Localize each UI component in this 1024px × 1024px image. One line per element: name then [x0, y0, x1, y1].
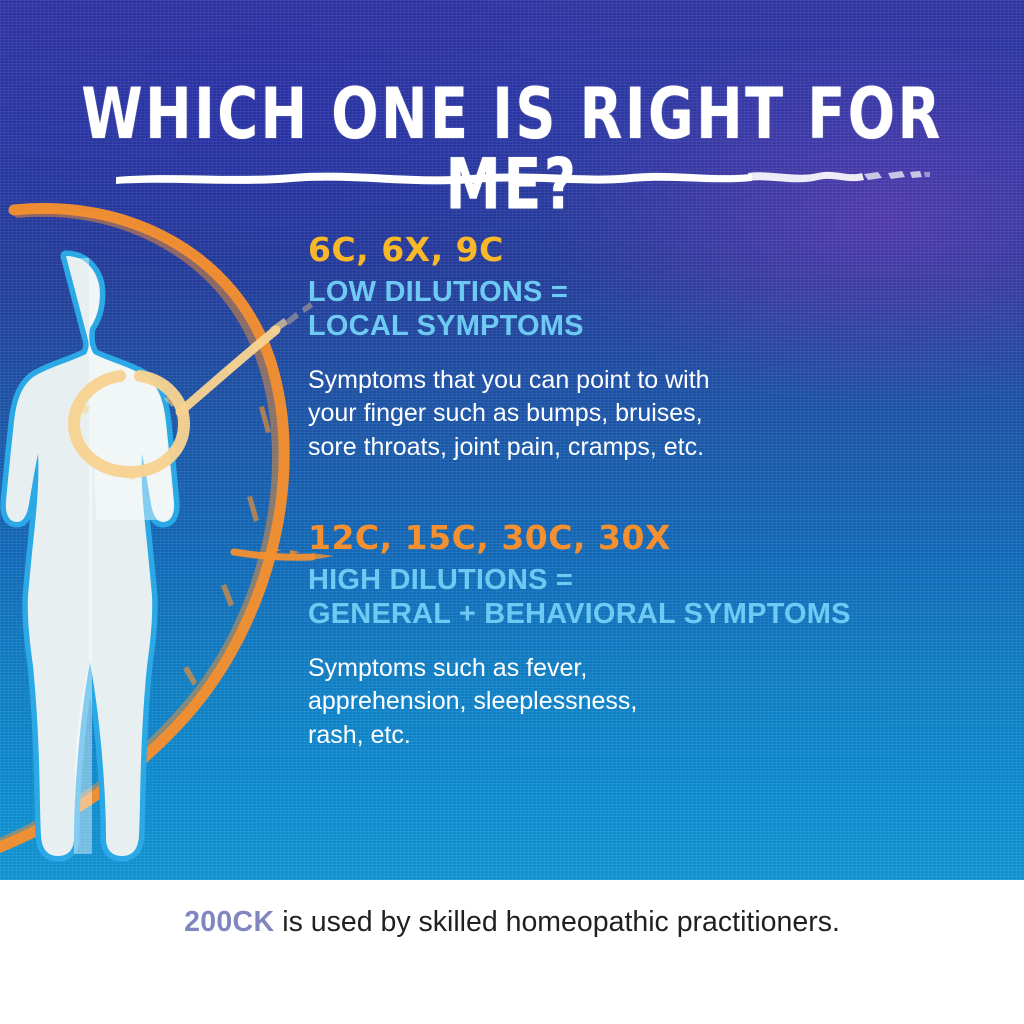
- dose-label-low: 6C, 6X, 9C: [308, 232, 968, 268]
- description-low-line2: your finger such as bumps, bruises,: [308, 399, 703, 427]
- dilution-block-high: 12C, 15C, 30C, 30X HIGH DILUTIONS = GENE…: [308, 520, 968, 752]
- subtitle-high-line2: GENERAL + BEHAVIORAL SYMPTOMS: [308, 598, 851, 630]
- subtitle-low: LOW DILUTIONS = LOCAL SYMPTOMS: [308, 276, 968, 343]
- subtitle-low-line2: LOCAL SYMPTOMS: [308, 310, 584, 342]
- human-body-silhouette-icon: [6, 256, 174, 856]
- description-high: Symptoms such as fever, apprehension, sl…: [308, 652, 968, 753]
- description-low-line1: Symptoms that you can point to with: [308, 366, 710, 394]
- footer-note-text: is used by skilled homeopathic practitio…: [274, 906, 840, 938]
- footer-note: 200CK is used by skilled homeopathic pra…: [0, 906, 1024, 939]
- body-illustration: [0, 196, 354, 906]
- brush-stroke-underline-icon: [112, 166, 930, 188]
- subtitle-high-line1: HIGH DILUTIONS =: [308, 564, 573, 596]
- dilution-block-low: 6C, 6X, 9C LOW DILUTIONS = LOCAL SYMPTOM…: [308, 232, 968, 464]
- dose-label-high: 12C, 15C, 30C, 30X: [308, 520, 968, 556]
- description-high-line2: apprehension, sleeplessness,: [308, 687, 637, 715]
- subtitle-low-line1: LOW DILUTIONS =: [308, 276, 568, 308]
- description-low: Symptoms that you can point to with your…: [308, 364, 968, 465]
- torn-paint-edge-icon: [0, 956, 1024, 1024]
- infographic-poster: WHICH ONE IS RIGHT FOR ME?: [0, 0, 1024, 1024]
- description-low-line3: sore throats, joint pain, cramps, etc.: [308, 433, 704, 461]
- content-column: 6C, 6X, 9C LOW DILUTIONS = LOCAL SYMPTOM…: [308, 232, 968, 752]
- description-high-line3: rash, etc.: [308, 721, 411, 749]
- subtitle-high: HIGH DILUTIONS = GENERAL + BEHAVIORAL SY…: [308, 564, 968, 631]
- description-high-line1: Symptoms such as fever,: [308, 654, 587, 682]
- footer-dilution-mark: 200CK: [184, 906, 274, 938]
